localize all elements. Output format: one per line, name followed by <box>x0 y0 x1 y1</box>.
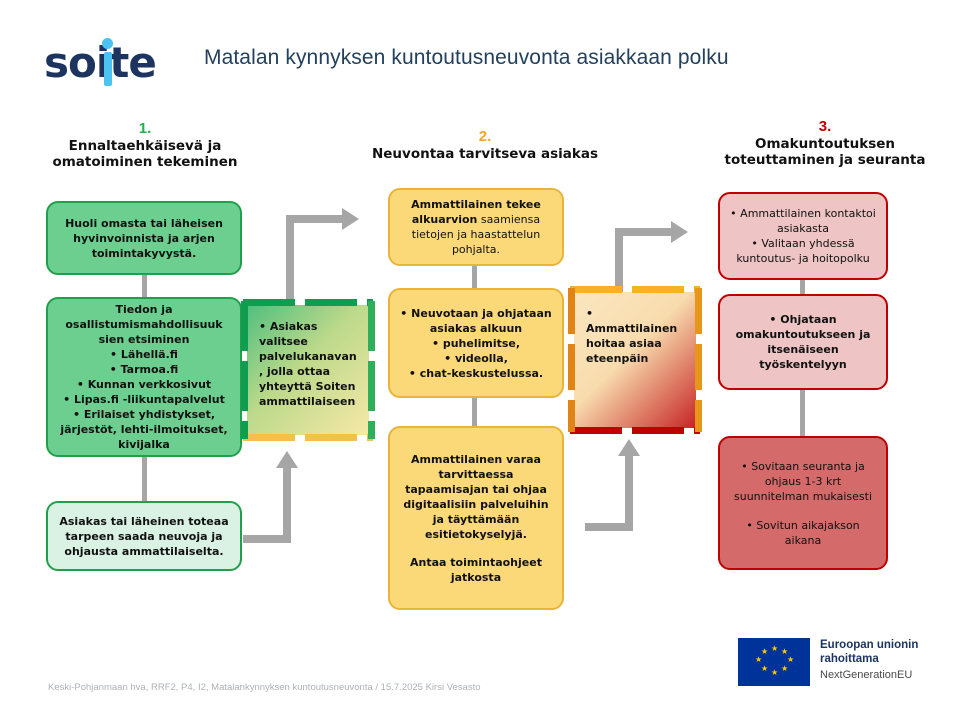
dashed-border-bottom <box>570 427 700 434</box>
col1-box-information-heading: Tiedon ja osallistumismahdollisuuk sien … <box>58 302 230 347</box>
connector-stem-col3-b <box>800 390 805 436</box>
soite-logo: soite <box>44 36 162 90</box>
bridge-box-professional-forward-text: Ammattilainen hoitaa asiaa eteenpäin <box>586 306 686 366</box>
eu-text-line2: rahoittama <box>820 652 918 666</box>
list-item: • videolla, <box>400 351 552 366</box>
column-number-3: 3. <box>700 118 950 136</box>
col2-guidance-list: • Neuvotaan ja ohjataan asiakas alkuun •… <box>400 306 552 381</box>
col2-box-initial-assessment: Ammattilainen tekee alkuarvion saamiensa… <box>388 188 564 266</box>
list-item: • Sovitaan seuranta ja ohjaus 1-3 krt su… <box>730 459 876 504</box>
list-item: • Lähellä.fi <box>58 347 230 362</box>
col3-box-followup: • Sovitaan seuranta ja ohjaus 1-3 krt su… <box>718 436 888 570</box>
dashed-border-left <box>241 301 248 439</box>
col1-information-list: • Lähellä.fi • Tarmoa.fi • Kunnan verkko… <box>58 347 230 452</box>
connector-stem-col2-b <box>472 398 477 426</box>
column-title-1-line1: Ennaltaehkäisevä ja <box>20 138 270 154</box>
arrowhead-icon <box>618 439 640 456</box>
col2-box-guidance: • Neuvotaan ja ohjataan asiakas alkuun •… <box>388 288 564 398</box>
list-item: • Neuvotaan ja ohjataan asiakas alkuun <box>400 306 552 336</box>
column-title-3-line2: toteuttaminen ja seuranta <box>700 152 950 168</box>
dashed-border-top <box>570 286 700 293</box>
column-title-1-line2: omatoiminen tekeminen <box>20 154 270 170</box>
list-item: • chat-keskustelussa. <box>400 366 552 381</box>
column-heading-1: 1. Ennaltaehkäisevä ja omatoiminen tekem… <box>20 120 270 170</box>
col3-contact-list: • Ammattilainen kontaktoi asiakasta • Va… <box>730 206 876 266</box>
dashed-border-top <box>243 299 373 306</box>
list-item: • Kunnan verkkosivut <box>58 377 230 392</box>
arrowhead-icon <box>342 208 359 230</box>
column-title-2-line1: Neuvontaa tarvitseva asiakas <box>340 146 630 162</box>
col1-box-concern-text: Huoli omasta tai läheisen hyvinvoinnista… <box>58 216 230 261</box>
list-item: • puhelimitse, <box>400 336 552 351</box>
arrow-col1-to-col2-top <box>286 215 366 310</box>
list-item: • Erilaiset yhdistykset, järjestöt, leht… <box>58 407 230 452</box>
col2-appointment-para2: Antaa toimintaohjeet jatkosta <box>400 555 552 585</box>
connector-stem-col2-a <box>472 266 477 288</box>
arrow-col1-to-bridge1 <box>243 455 323 543</box>
col2-box-appointment: Ammattilainen varaa tarvittaessa tapaami… <box>388 426 564 610</box>
arrowhead-icon <box>671 221 688 243</box>
col2-appointment-para1: Ammattilainen varaa tarvittaessa tapaami… <box>400 452 552 542</box>
page-title: Matalan kynnyksen kuntoutusneuvonta asia… <box>204 46 729 70</box>
col1-box-information: Tiedon ja osallistumismahdollisuuk sien … <box>46 297 242 457</box>
col3-followup-list: • Sovitaan seuranta ja ohjaus 1-3 krt su… <box>730 459 876 548</box>
col3-box-contact: • Ammattilainen kontaktoi asiakasta • Va… <box>718 192 888 280</box>
column-heading-2: 2. Neuvontaa tarvitseva asiakas <box>340 128 630 162</box>
eu-funding-logo: ★ ★ ★ ★ ★ ★ ★ ★ Euroopan unionin rahoitt… <box>738 638 918 686</box>
logo-dot-icon <box>102 38 113 49</box>
dashed-border-right <box>695 288 702 432</box>
dashed-border-right <box>368 301 375 439</box>
eu-text-line1: Euroopan unionin <box>820 638 918 652</box>
connector-stem-col3-a <box>800 280 805 294</box>
column-number-1: 1. <box>20 120 270 138</box>
bridge-box-channel-choice-text: Asiakas valitsee palvelukanavan , jolla … <box>259 319 359 409</box>
bridge-box-channel-choice: Asiakas valitsee palvelukanavan , jolla … <box>247 305 369 435</box>
bridge-box-professional-forward: Ammattilainen hoitaa asiaa eteenpäin <box>574 292 696 428</box>
column-number-2: 2. <box>340 128 630 146</box>
dashed-border-bottom <box>243 434 373 441</box>
column-heading-3: 3. Omakuntoutuksen toteuttaminen ja seur… <box>700 118 950 168</box>
arrow-col2-to-bridge2 <box>585 443 665 531</box>
eu-text-sub: NextGenerationEU <box>820 668 918 683</box>
col1-box-need: Asiakas tai läheinen toteaa tarpeen saad… <box>46 501 242 571</box>
list-item: • Lipas.fi -liikuntapalvelut <box>58 392 230 407</box>
col1-box-need-text: Asiakas tai läheinen toteaa tarpeen saad… <box>58 514 230 559</box>
col1-box-concern: Huoli omasta tai läheisen hyvinvoinnista… <box>46 201 242 275</box>
list-item: • Ohjataan omakuntoutukseen ja itsenäise… <box>730 312 876 372</box>
col2-box-initial-assessment-text: Ammattilainen tekee alkuarvion saamiensa… <box>400 197 552 257</box>
logo-bar-icon <box>104 52 112 86</box>
dashed-border-left <box>568 288 575 432</box>
connector-stem-col1-a <box>142 275 147 297</box>
col3-box-self-rehab: • Ohjataan omakuntoutukseen ja itsenäise… <box>718 294 888 390</box>
list-item: • Sovitun aikajakson aikana <box>730 518 876 548</box>
connector-stem-col1-b <box>142 457 147 501</box>
list-item: • Valitaan yhdessä kuntoutus- ja hoitopo… <box>730 236 876 266</box>
list-item: • Ammattilainen kontaktoi asiakasta <box>730 206 876 236</box>
eu-flag-icon: ★ ★ ★ ★ ★ ★ ★ ★ <box>738 638 810 686</box>
list-item: • Tarmoa.fi <box>58 362 230 377</box>
footer-credit: Keski-Pohjanmaan hva, RRF2, P4, I2, Mata… <box>48 682 481 693</box>
arrowhead-icon <box>276 451 298 468</box>
column-title-3-line1: Omakuntoutuksen <box>700 136 950 152</box>
infographic-page: soite Matalan kynnyksen kuntoutusneuvont… <box>0 0 960 720</box>
